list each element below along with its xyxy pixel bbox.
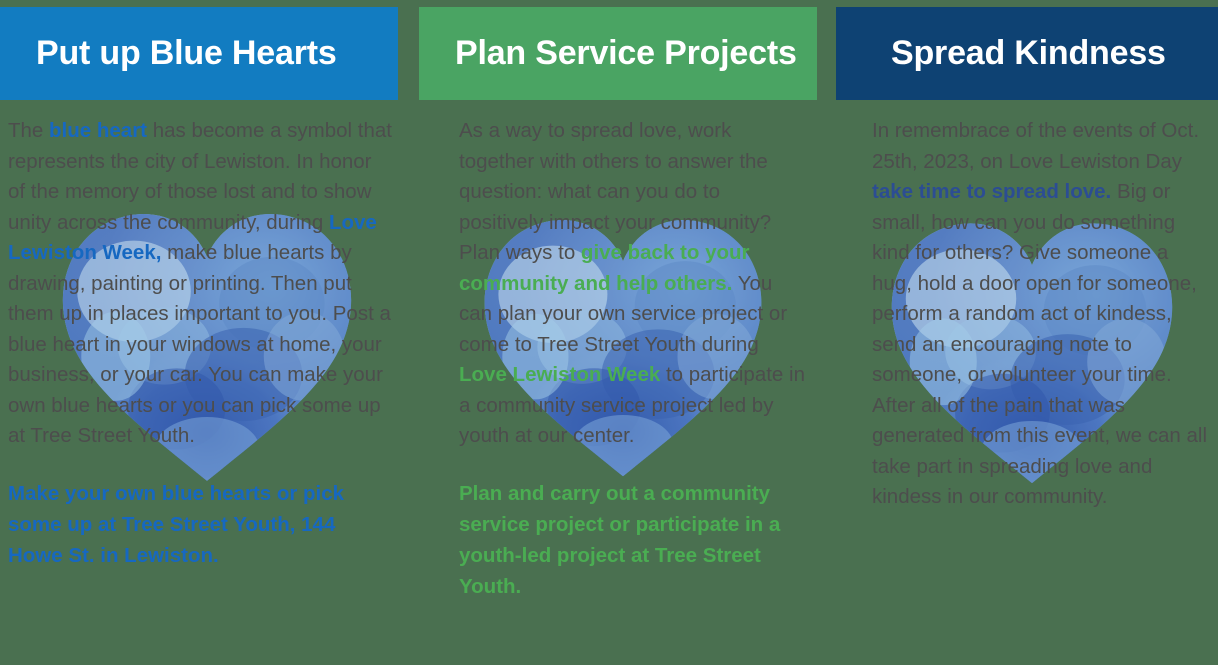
- header-bar-spread-kindness: Spread Kindness: [836, 7, 1218, 100]
- callout-plan-service-projects: Plan and carry out a community service p…: [459, 478, 809, 602]
- body-plan-service-projects: As a way to spread love, work together w…: [419, 116, 817, 602]
- paragraph-spread-kindness: In remembrace of the events of Oct. 25th…: [872, 116, 1212, 513]
- column-spread-kindness: Spread Kindness: [836, 0, 1218, 665]
- highlight-take-time-to-spread-love: take time to spread love.: [872, 180, 1111, 203]
- column-plan-service-projects: Plan Service Projects: [419, 0, 817, 665]
- highlight-love-lewiston-week: Love Lewiston Week: [459, 363, 660, 386]
- paragraph-put-up-blue-hearts: The blue heart has become a symbol that …: [8, 116, 394, 452]
- text-segment: make blue hearts by drawing, painting or…: [8, 241, 391, 447]
- text-segment: The: [8, 119, 49, 142]
- column-put-up-blue-hearts: Put up Blue Hearts: [0, 0, 398, 665]
- callout-put-up-blue-hearts: Make your own blue hearts or pick some u…: [8, 478, 394, 571]
- header-title: Spread Kindness: [891, 36, 1166, 72]
- body-spread-kindness: In remembrace of the events of Oct. 25th…: [836, 116, 1218, 513]
- text-segment: In remembrace of the events of Oct. 25th…: [872, 119, 1199, 173]
- header-title: Plan Service Projects: [455, 36, 797, 72]
- header-title: Put up Blue Hearts: [36, 36, 337, 72]
- body-put-up-blue-hearts: The blue heart has become a symbol that …: [0, 116, 398, 571]
- text-segment: Big or small, how can you do something k…: [872, 180, 1207, 508]
- highlight-blue-heart: blue heart: [49, 119, 147, 142]
- paragraph-plan-service-projects: As a way to spread love, work together w…: [459, 116, 809, 452]
- header-bar-plan-service-projects: Plan Service Projects: [419, 7, 817, 100]
- three-column-board: Put up Blue Hearts: [0, 0, 1218, 665]
- header-bar-put-up-blue-hearts: Put up Blue Hearts: [0, 7, 398, 100]
